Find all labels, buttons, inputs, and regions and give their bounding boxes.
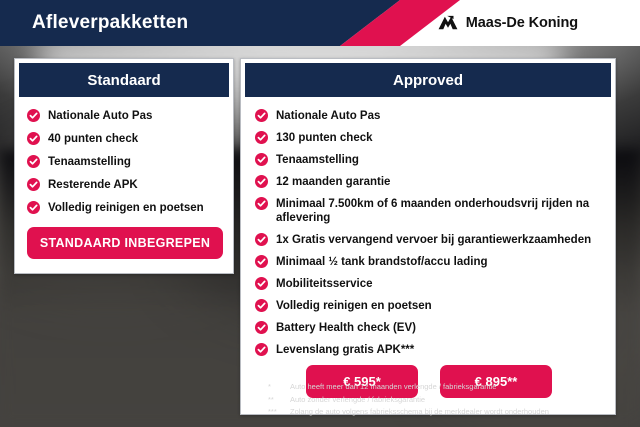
footnote-row: *Auto heeft meer dan 12 maanden verlengd… — [268, 382, 628, 393]
check-circle-icon — [255, 233, 268, 246]
standaard-feature-item-label: 40 punten check — [48, 132, 138, 146]
approved-feature-item: 130 punten check — [255, 131, 603, 145]
approved-feature-item: Levenslang gratis APK*** — [255, 343, 603, 357]
standaard-package-card: Standaard Nationale Auto Pas40 punten ch… — [14, 58, 234, 274]
approved-feature-item: Minimaal 7.500km of 6 maanden onderhouds… — [255, 197, 603, 225]
standaard-feature-list: Nationale Auto Pas40 punten checkTenaams… — [27, 109, 223, 215]
footnote-marker: * — [268, 382, 284, 393]
approved-feature-item-label: Battery Health check (EV) — [276, 321, 416, 335]
approved-feature-item: Tenaamstelling — [255, 153, 603, 167]
check-circle-icon — [255, 277, 268, 290]
standaard-feature-item-label: Resterende APK — [48, 178, 138, 192]
standaard-inbegrepen-button[interactable]: STANDAARD INBEGREPEN — [27, 227, 223, 259]
maas-de-koning-m-mark-icon — [437, 15, 459, 31]
approved-feature-item: Nationale Auto Pas — [255, 109, 603, 123]
approved-feature-item-label: Nationale Auto Pas — [276, 109, 380, 123]
check-circle-icon — [255, 109, 268, 122]
check-circle-icon — [27, 155, 40, 168]
footnote-row: ***Zolang de auto volgens fabrieksschema… — [268, 407, 628, 418]
check-circle-icon — [255, 343, 268, 356]
approved-feature-item: Battery Health check (EV) — [255, 321, 603, 335]
standaard-card-heading: Standaard — [19, 63, 229, 97]
approved-card-body: Nationale Auto Pas130 punten checkTenaam… — [241, 97, 615, 414]
top-header-bar: Afleverpakketten Maas-De Koning — [0, 0, 640, 46]
check-circle-icon — [255, 197, 268, 210]
standaard-feature-item: Nationale Auto Pas — [27, 109, 223, 123]
footnote-marker: ** — [268, 395, 284, 406]
approved-feature-item-label: 12 maanden garantie — [276, 175, 390, 189]
approved-feature-item: 12 maanden garantie — [255, 175, 603, 189]
approved-feature-item: Volledig reinigen en poetsen — [255, 299, 603, 313]
standaard-feature-item-label: Nationale Auto Pas — [48, 109, 152, 123]
approved-feature-list: Nationale Auto Pas130 punten checkTenaam… — [255, 109, 603, 357]
approved-feature-item-label: Minimaal ½ tank brandstof/accu lading — [276, 255, 488, 269]
approved-feature-item: 1x Gratis vervangend vervoer bij garanti… — [255, 233, 603, 247]
footnote-text: Zolang de auto volgens fabrieksschema bi… — [290, 407, 628, 418]
footnotes: *Auto heeft meer dan 12 maanden verlengd… — [268, 382, 628, 420]
check-circle-icon — [255, 299, 268, 312]
footnote-text: Auto heeft meer dan 12 maanden verlengde… — [290, 382, 628, 393]
approved-feature-item-label: 130 punten check — [276, 131, 373, 145]
standaard-card-body: Nationale Auto Pas40 punten checkTenaams… — [15, 97, 233, 273]
approved-feature-item-label: Tenaamstelling — [276, 153, 359, 167]
approved-feature-item-label: Levenslang gratis APK*** — [276, 343, 414, 357]
check-circle-icon — [255, 255, 268, 268]
page-title: Afleverpakketten — [32, 0, 188, 46]
brand-name: Maas-De Koning — [466, 15, 578, 31]
check-circle-icon — [255, 321, 268, 334]
brand-logo: Maas-De Koning — [437, 0, 578, 46]
standaard-feature-item: Volledig reinigen en poetsen — [27, 201, 223, 215]
check-circle-icon — [27, 132, 40, 145]
check-circle-icon — [27, 109, 40, 122]
approved-package-card: Approved Nationale Auto Pas130 punten ch… — [240, 58, 616, 415]
footnote-text: Auto zonder verlengde / fabrieksgarantie — [290, 395, 628, 406]
standaard-feature-item: Resterende APK — [27, 178, 223, 192]
check-circle-icon — [27, 201, 40, 214]
approved-feature-item-label: Minimaal 7.500km of 6 maanden onderhouds… — [276, 197, 603, 225]
check-circle-icon — [255, 153, 268, 166]
approved-feature-item-label: Volledig reinigen en poetsen — [276, 299, 432, 313]
footnote-row: **Auto zonder verlengde / fabrieksgarant… — [268, 395, 628, 406]
approved-feature-item: Minimaal ½ tank brandstof/accu lading — [255, 255, 603, 269]
check-circle-icon — [255, 175, 268, 188]
check-circle-icon — [255, 131, 268, 144]
standaard-feature-item: Tenaamstelling — [27, 155, 223, 169]
standaard-feature-item-label: Tenaamstelling — [48, 155, 131, 169]
approved-feature-item: Mobiliteitsservice — [255, 277, 603, 291]
standaard-feature-item-label: Volledig reinigen en poetsen — [48, 201, 204, 215]
approved-feature-item-label: 1x Gratis vervangend vervoer bij garanti… — [276, 233, 591, 247]
standaard-feature-item: 40 punten check — [27, 132, 223, 146]
approved-feature-item-label: Mobiliteitsservice — [276, 277, 373, 291]
footnote-marker: *** — [268, 407, 284, 418]
check-circle-icon — [27, 178, 40, 191]
approved-card-heading: Approved — [245, 63, 611, 97]
